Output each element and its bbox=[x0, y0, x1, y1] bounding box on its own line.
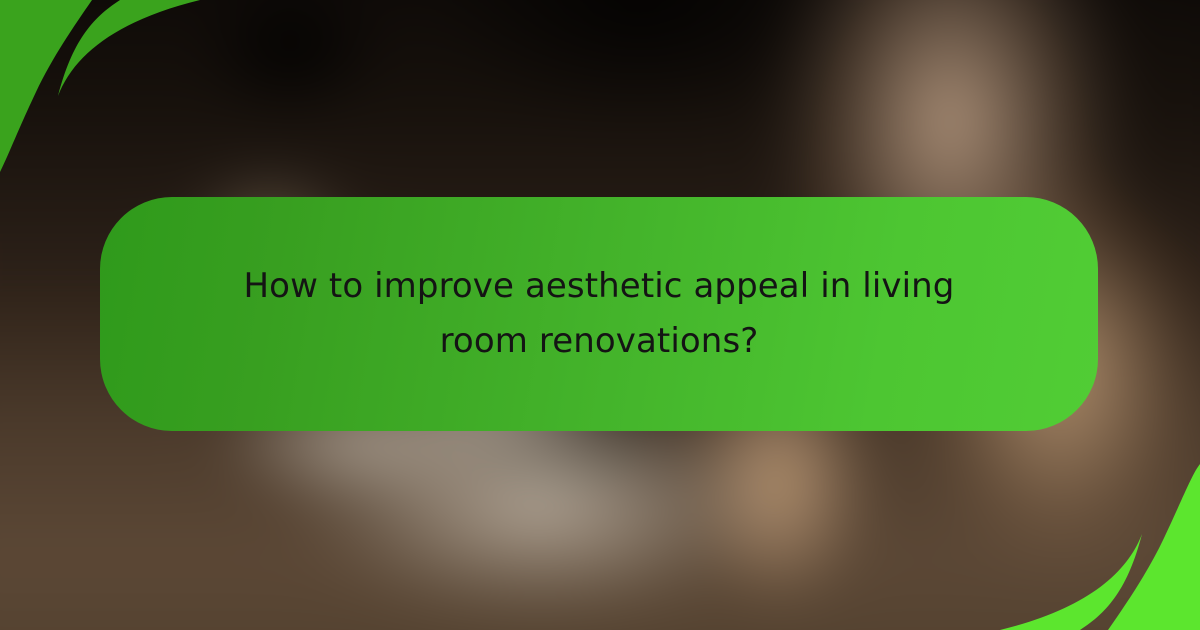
social-card-canvas: How to improve aesthetic appeal in livin… bbox=[0, 0, 1200, 630]
card-title-text: How to improve aesthetic appeal in livin… bbox=[239, 259, 959, 369]
title-card: How to improve aesthetic appeal in livin… bbox=[100, 197, 1098, 431]
